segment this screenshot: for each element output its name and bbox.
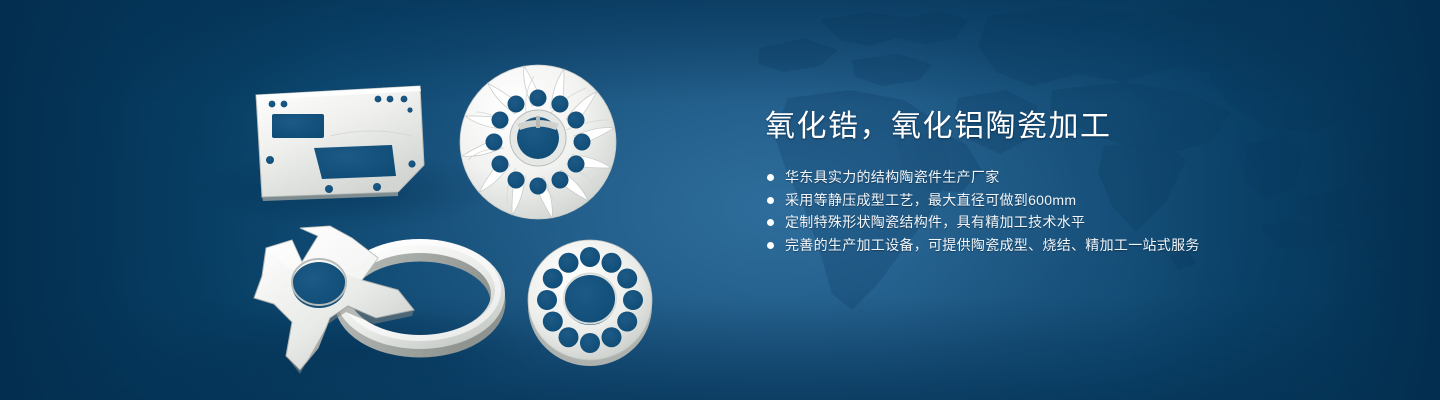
- ceramic-products-image: [0, 0, 720, 400]
- list-item: 华东具实力的结构陶瓷件生产厂家: [765, 166, 1385, 189]
- bullet-dot-icon: [767, 242, 774, 249]
- bullet-dot-icon: [767, 174, 774, 181]
- ceramic-perforated-disc-part: [528, 240, 652, 366]
- feature-text: 完善的生产加工设备，可提供陶瓷成型、烧结、精加工一站式服务: [785, 237, 1200, 253]
- banner-copy: 氧化锆，氧化铝陶瓷加工 华东具实力的结构陶瓷件生产厂家 采用等静压成型工艺，最大…: [765, 108, 1385, 256]
- banner-feature-list: 华东具实力的结构陶瓷件生产厂家 采用等静压成型工艺，最大直径可做到600mm 定…: [765, 166, 1385, 256]
- ceramic-plate-part: [256, 86, 424, 201]
- list-item: 定制特殊形状陶瓷结构件，具有精加工技术水平: [765, 211, 1385, 234]
- bullet-dot-icon: [767, 219, 774, 226]
- ceramic-impeller-part: [460, 65, 616, 219]
- bullet-dot-icon: [767, 197, 774, 204]
- list-item: 完善的生产加工设备，可提供陶瓷成型、烧结、精加工一站式服务: [765, 234, 1385, 257]
- list-item: 采用等静压成型工艺，最大直径可做到600mm: [765, 189, 1385, 212]
- promo-banner: 氧化锆，氧化铝陶瓷加工 华东具实力的结构陶瓷件生产厂家 采用等静压成型工艺，最大…: [0, 0, 1440, 400]
- feature-text: 采用等静压成型工艺，最大直径可做到600mm: [785, 192, 1076, 208]
- feature-text: 华东具实力的结构陶瓷件生产厂家: [785, 169, 1000, 185]
- feature-text: 定制特殊形状陶瓷结构件，具有精加工技术水平: [785, 214, 1085, 230]
- banner-headline: 氧化锆，氧化铝陶瓷加工: [765, 108, 1385, 146]
